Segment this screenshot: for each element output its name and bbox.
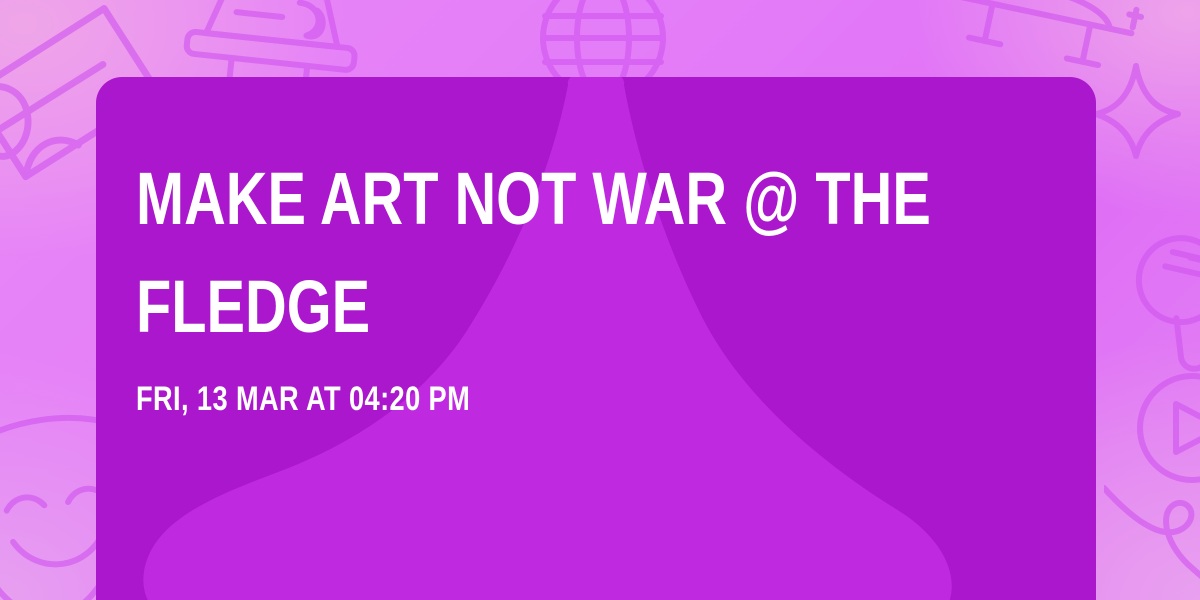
event-title: Make Art Not War @ The Fledge: [136, 145, 1017, 361]
event-card[interactable]: Make Art Not War @ The Fledge Fri, 13 Ma…: [96, 77, 1096, 600]
card-content: Make Art Not War @ The Fledge Fri, 13 Ma…: [136, 145, 1056, 419]
event-banner: Make Art Not War @ The Fledge Fri, 13 Ma…: [0, 0, 1200, 600]
event-date: Fri, 13 Mar at 04:20 PM: [136, 379, 696, 419]
